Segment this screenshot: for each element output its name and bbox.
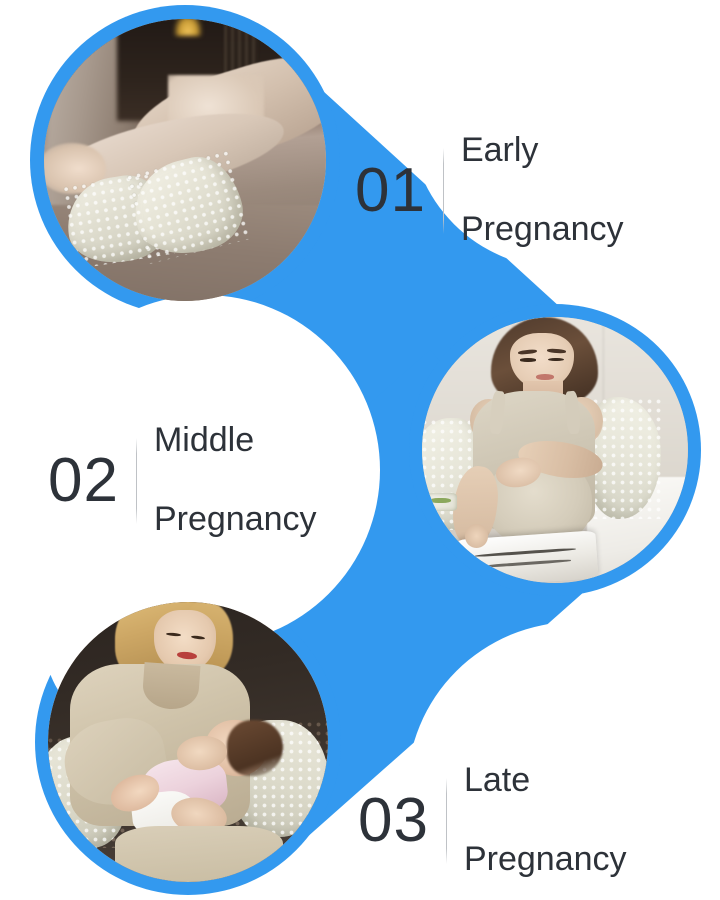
step-caption-03: Late Pregnancy (464, 722, 627, 900)
photo-early-pregnancy (44, 19, 326, 301)
infographic-root: 01 Early Pregnancy 02 Middle Pregnancy 0… (0, 0, 720, 900)
step-caption-01: Early Pregnancy (461, 92, 624, 289)
step-caption-02-line2: Pregnancy (154, 500, 317, 539)
step-number-01: 01 (355, 160, 426, 222)
step-caption-03-line2: Pregnancy (464, 840, 627, 879)
step-label-02: 02 Middle Pregnancy (48, 382, 317, 579)
step-caption-03-line1: Late (464, 761, 627, 800)
label-divider-03 (446, 778, 447, 864)
step-caption-02-line1: Middle (154, 421, 317, 460)
photo-middle-pregnancy (422, 317, 688, 583)
label-divider-01 (443, 148, 444, 234)
label-divider-02 (136, 438, 137, 524)
step-number-03: 03 (358, 790, 429, 852)
photo-late-pregnancy (48, 602, 328, 882)
step-caption-02: Middle Pregnancy (154, 382, 317, 579)
step-label-01: 01 Early Pregnancy (355, 92, 624, 289)
step-caption-01-line2: Pregnancy (461, 210, 624, 249)
step-number-02: 02 (48, 450, 119, 512)
step-label-03: 03 Late Pregnancy (358, 722, 627, 900)
step-caption-01-line1: Early (461, 131, 624, 170)
